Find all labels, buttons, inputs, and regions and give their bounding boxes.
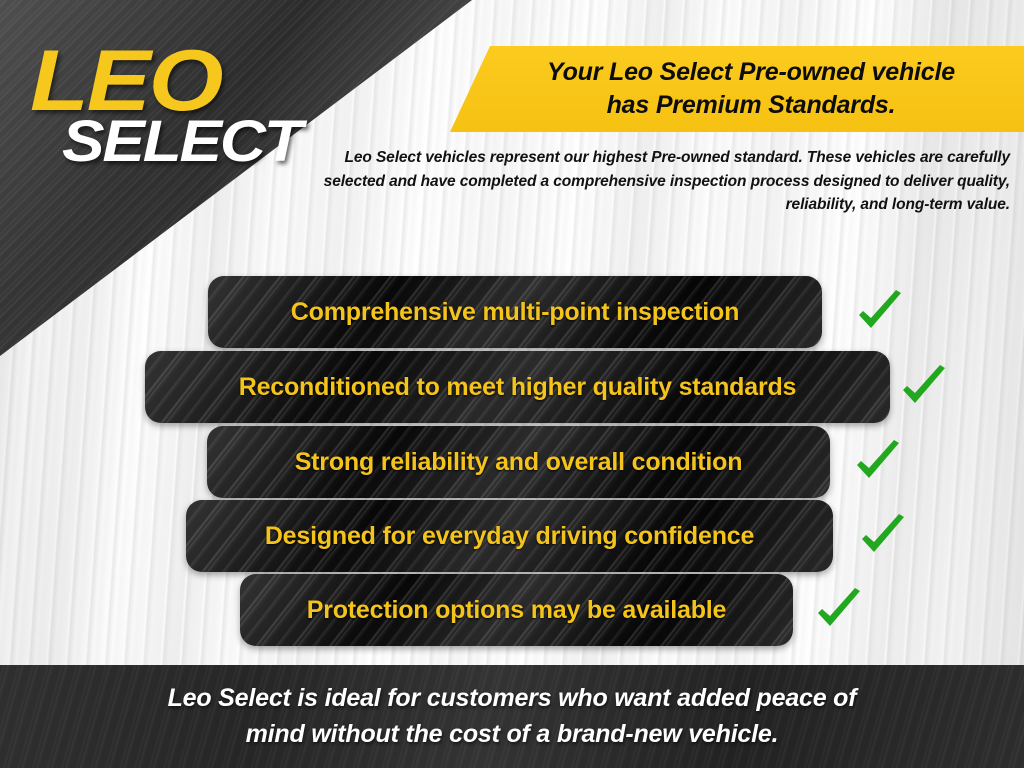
footer-text: Leo Select is ideal for customers who wa…	[128, 681, 897, 752]
feature-row: Designed for everyday driving confidence	[186, 500, 909, 572]
feature-label: Protection options may be available	[307, 596, 727, 625]
check-icon	[813, 584, 865, 636]
feature-row: Reconditioned to meet higher quality sta…	[145, 351, 950, 423]
feature-pill: Strong reliability and overall condition	[207, 426, 830, 498]
logo-secondary-text: SELECT	[62, 113, 300, 171]
footer-line-1: Leo Select is ideal for customers who wa…	[168, 684, 857, 712]
check-icon	[857, 510, 909, 562]
feature-label: Comprehensive multi-point inspection	[291, 298, 739, 327]
feature-pill: Protection options may be available	[240, 574, 793, 646]
feature-pill: Designed for everyday driving confidence	[186, 500, 833, 572]
footer-banner: Leo Select is ideal for customers who wa…	[0, 665, 1024, 768]
leo-select-poster: LEO SELECT Your Leo Select Pre-owned veh…	[0, 0, 1024, 768]
intro-paragraph: Leo Select vehicles represent our highes…	[300, 146, 1010, 217]
feature-list: Comprehensive multi-point inspection Rec…	[0, 266, 1024, 656]
feature-pill: Reconditioned to meet higher quality sta…	[145, 351, 890, 423]
headline-text: Your Leo Select Pre-owned vehicle has Pr…	[501, 56, 973, 122]
feature-label: Reconditioned to meet higher quality sta…	[239, 373, 797, 402]
check-icon	[898, 361, 950, 413]
headline-banner: Your Leo Select Pre-owned vehicle has Pr…	[450, 46, 1024, 132]
headline-line-2: has Premium Standards.	[607, 91, 896, 119]
brand-logo: LEO SELECT	[0, 0, 330, 190]
feature-label: Strong reliability and overall condition	[295, 448, 743, 477]
feature-row: Protection options may be available	[240, 574, 865, 646]
feature-row: Comprehensive multi-point inspection	[208, 276, 906, 348]
check-icon	[854, 286, 906, 338]
feature-pill: Comprehensive multi-point inspection	[208, 276, 822, 348]
headline-line-1: Your Leo Select Pre-owned vehicle	[547, 58, 955, 86]
footer-line-2: mind without the cost of a brand-new veh…	[246, 720, 779, 748]
check-icon	[852, 436, 904, 488]
feature-label: Designed for everyday driving confidence	[265, 522, 754, 551]
feature-row: Strong reliability and overall condition	[207, 426, 904, 498]
